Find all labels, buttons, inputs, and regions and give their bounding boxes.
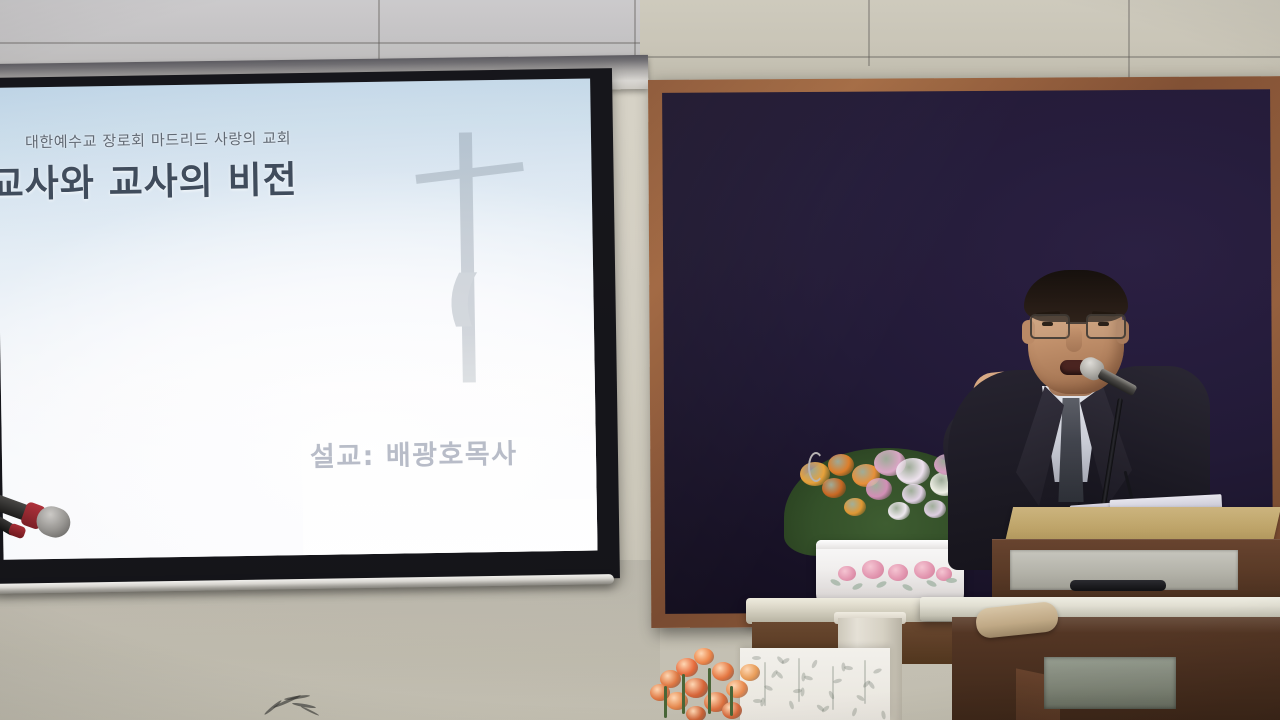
projection-screen: 대한예수교 장로회 마드리드 사랑의 교회 교사와 교사의 비전 설교: 배광호… xyxy=(0,68,620,588)
slide-surface: 대한예수교 장로회 마드리드 사랑의 교회 교사와 교사의 비전 설교: 배광호… xyxy=(0,79,597,560)
pastor-eye-right xyxy=(1098,322,1109,326)
slide-title: 교사와 교사의 비전 xyxy=(0,149,298,208)
vine-stem xyxy=(864,660,866,704)
planter-handle-left xyxy=(808,452,824,482)
kalanchoe-stem xyxy=(682,674,685,714)
kalanchoe-bloom xyxy=(740,664,760,681)
kalanchoe-bloom xyxy=(650,684,670,701)
vine-leaf xyxy=(851,707,858,717)
flower-bloom xyxy=(896,458,930,485)
flower-bloom xyxy=(822,478,846,498)
planter-leaf xyxy=(851,582,863,591)
pulpit-lower-shelf xyxy=(1044,657,1176,709)
ceiling-grid-line xyxy=(0,42,640,44)
ceiling-grid-line xyxy=(640,56,1280,58)
vine-leaf xyxy=(881,710,887,720)
planter-leaf xyxy=(829,578,841,587)
pastor-eye-left xyxy=(1042,322,1053,326)
flower-bloom xyxy=(902,484,926,504)
kalanchoe-stem xyxy=(708,668,711,714)
planter-leaf xyxy=(875,580,887,589)
planter-rose xyxy=(862,560,884,579)
slide-church-line: 대한예수교 장로회 마드리드 사랑의 교회 xyxy=(25,127,292,152)
kalanchoe-bloom xyxy=(694,648,714,665)
kalanchoe-bloom xyxy=(686,706,706,720)
foreground-kalanchoe xyxy=(630,640,800,720)
planter-rose xyxy=(838,566,856,581)
slide-speaker-line: 설교: 배광호목사 xyxy=(310,432,518,474)
flower-bloom xyxy=(828,454,854,476)
kalanchoe-bloom xyxy=(712,662,734,681)
pastor-nose xyxy=(1066,326,1082,352)
pulpit xyxy=(920,505,1280,720)
kalanchoe-bloom xyxy=(684,678,708,698)
microphone-base xyxy=(1070,580,1166,591)
kalanchoe-stem xyxy=(664,686,667,718)
vine-leaf xyxy=(873,667,883,674)
kalanchoe-stem xyxy=(730,686,733,716)
ceiling-grid-line xyxy=(1128,0,1130,78)
flower-bloom xyxy=(888,502,910,520)
vine-leaf xyxy=(801,672,806,681)
vine-stem xyxy=(832,666,834,710)
vine-leaf xyxy=(841,662,845,671)
pulpit-front-face xyxy=(992,539,1280,601)
photo-scene: 대한예수교 장로회 마드리드 사랑의 교회 교사와 교사의 비전 설교: 배광호… xyxy=(0,0,1280,720)
flower-bloom xyxy=(844,498,866,516)
vine-leaf xyxy=(833,678,843,684)
planter-leaf xyxy=(901,583,913,592)
vine-leaf xyxy=(811,659,819,669)
planter-rose xyxy=(888,564,908,581)
flower-bloom xyxy=(866,478,892,500)
